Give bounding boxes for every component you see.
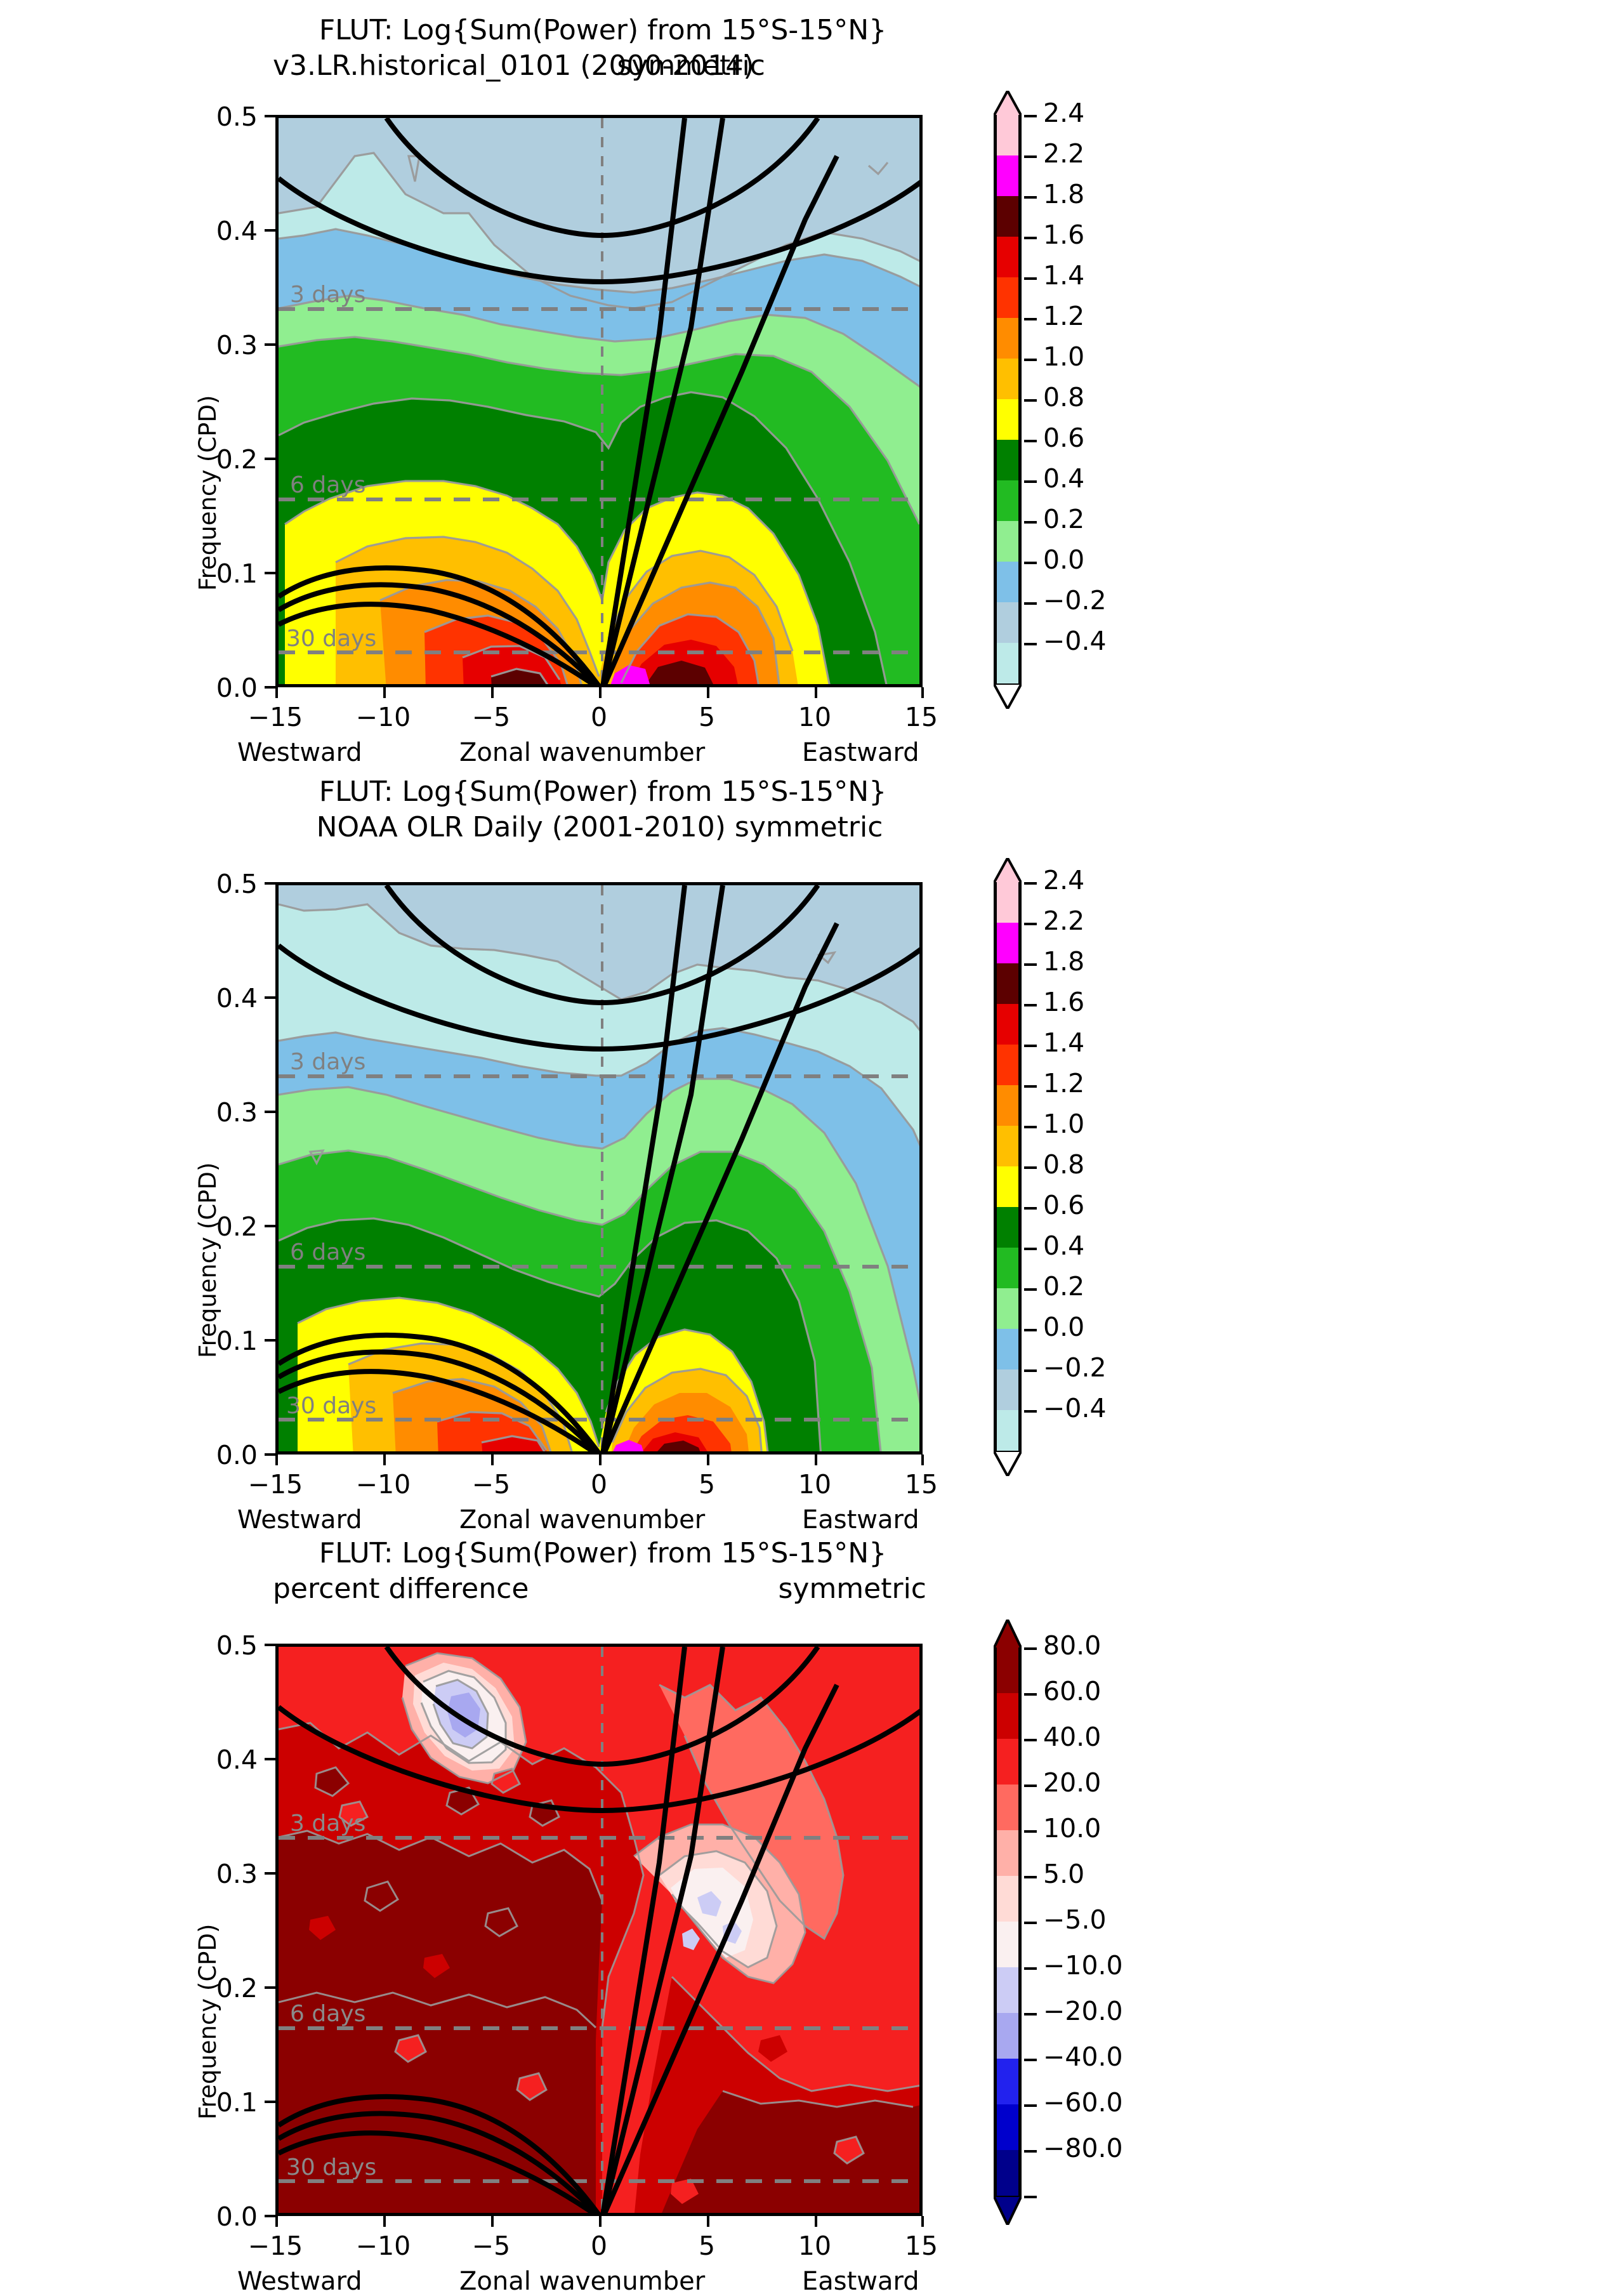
- panel-1-ytickmark: [265, 229, 275, 232]
- panel-3-colorbar-extend-bottom: [994, 2196, 1022, 2225]
- panel-2-ytickmark: [265, 1111, 275, 1113]
- panel-1-cb-tick: [1024, 440, 1037, 442]
- panel-1-cb-tick: [1024, 277, 1037, 280]
- panel-2-xtickmark: [599, 1455, 602, 1465]
- panel-3-xtick: −15: [234, 2231, 317, 2261]
- panel-3-cb-label: −60.0: [1043, 2087, 1123, 2118]
- panel-2-ytick: 0.3: [181, 1097, 258, 1128]
- panel-3-xtickmark: [815, 2216, 817, 2227]
- panel-2-xtickmark: [815, 1455, 817, 1465]
- panel-2-subtitle-left: NOAA OLR Daily (2001-2010) symmetric: [317, 811, 883, 843]
- panel-1-colorbar-extend-top: [994, 91, 1022, 116]
- panel-3-xtick: 0: [558, 2231, 640, 2261]
- panel-3-xtickmark: [599, 2216, 602, 2227]
- panel-3-cb-label: −80.0: [1043, 2133, 1123, 2163]
- panel-1-cb-label: 0.8: [1043, 382, 1084, 412]
- panel-1-ytick: 0.5: [181, 102, 258, 132]
- panel-1-cb-label: 2.4: [1043, 98, 1084, 128]
- panel-3-cb-tick: [1024, 1876, 1037, 1878]
- panel-1-ytickmark: [265, 343, 275, 346]
- panel-1-cb-label: 1.0: [1043, 341, 1084, 372]
- panel-1-cb-tick: [1024, 115, 1037, 117]
- panel-3-cb-tick: [1024, 2150, 1037, 2153]
- panel-2-ytick: 0.0: [181, 1440, 258, 1470]
- panel-3-ytick: 0.2: [181, 1973, 258, 2003]
- panel-3-cb-label: 10.0: [1043, 1813, 1101, 1844]
- panel-1-xtickmark: [599, 687, 602, 698]
- panel-2-cb-tick: [1024, 1410, 1037, 1413]
- panel-3-ytick: 0.0: [181, 2201, 258, 2232]
- panel-3-cb-tick: [1024, 2013, 1037, 2016]
- panel-1-ytick: 0.3: [181, 330, 258, 360]
- panel-1-cb-label: 0.2: [1043, 504, 1084, 534]
- panel-3-cb-label: 20.0: [1043, 1767, 1101, 1798]
- panel-2-colorbar-body: [994, 882, 1022, 1451]
- panel-1-xtick: 10: [773, 702, 856, 732]
- panel-3-xtickmark: [275, 2216, 278, 2227]
- panel-2-period-label-30days: 30 days: [286, 1393, 376, 1419]
- panel-1-cb-tick: [1024, 602, 1037, 605]
- panel-2-xtick: −10: [342, 1469, 424, 1500]
- panel-1-cb-tick: [1024, 399, 1037, 402]
- panel-3-ytick: 0.5: [181, 1630, 258, 1661]
- panel-3-ytickmark: [265, 1986, 275, 1989]
- panel-model-spectrum: FLUT: Log{Sum(Power) from 15°S-15°N} v3.…: [0, 0, 1618, 762]
- panel-3-colorbar-body: [994, 1647, 1022, 2196]
- panel-1-xtick: 0: [558, 702, 640, 732]
- panel-1-cb-label: 0.4: [1043, 463, 1084, 494]
- panel-2-cb-label: 0.4: [1043, 1230, 1084, 1261]
- panel-3-ytickmark: [265, 1758, 275, 1760]
- panel-2-xtick: 15: [880, 1469, 963, 1500]
- panel-3-cb-label: 60.0: [1043, 1676, 1101, 1706]
- panel-percent-difference: FLUT: Log{Sum(Power) from 15°S-15°N} per…: [0, 1523, 1618, 2285]
- panel-1-cb-label: 2.2: [1043, 138, 1084, 169]
- panel-1-cb-label: 1.8: [1043, 179, 1084, 209]
- panel-3-cb-tick: [1024, 1693, 1037, 1696]
- panel-3-title: FLUT: Log{Sum(Power) from 15°S-15°N}: [0, 1537, 1206, 1569]
- panel-2-cb-tick: [1024, 923, 1037, 925]
- panel-1-cb-tick: [1024, 318, 1037, 320]
- panel-3-xtickmark: [491, 2216, 494, 2227]
- panel-3-plot-area: 3 days 6 days 30 days: [275, 1644, 923, 2216]
- panel-3-ytick: 0.1: [181, 2087, 258, 2118]
- panel-3-xtickmark: [383, 2216, 386, 2227]
- panel-3-cb-label: 5.0: [1043, 1859, 1084, 1889]
- panel-2-colorbar-extend-bottom: [994, 1451, 1022, 1476]
- panel-1-cb-label: 1.6: [1043, 220, 1084, 250]
- panel-2-subtitle-row: NOAA OLR Daily (2001-2010) symmetric: [273, 811, 926, 847]
- panel-3-cb-label: −20.0: [1043, 1996, 1123, 2026]
- panel-1-colorbar-extend-bottom: [994, 683, 1022, 709]
- panel-2-xtick: 5: [666, 1469, 748, 1500]
- panel-3-cb-tick: [1024, 2104, 1037, 2107]
- panel-3-cb-tick: [1024, 1922, 1037, 1924]
- panel-2-ytickmark: [265, 1225, 275, 1227]
- panel-1-ytickmark: [265, 458, 275, 460]
- panel-3-xtick: 15: [880, 2231, 963, 2261]
- panel-1-xtickmark: [815, 687, 817, 698]
- panel-1-ytickmark: [265, 686, 275, 689]
- panel-1-title: FLUT: Log{Sum(Power) from 15°S-15°N}: [0, 14, 1206, 46]
- panel-2-cb-tick: [1024, 1126, 1037, 1128]
- panel-2-cb-label: 1.6: [1043, 987, 1084, 1017]
- panel-3-xtick: −5: [450, 2231, 532, 2261]
- panel-1-subtitle-right: symmetric: [617, 49, 765, 82]
- panel-2-xtick: −15: [234, 1469, 317, 1500]
- panel-3-ytickmark: [265, 1872, 275, 1875]
- panel-1-cb-label: 1.2: [1043, 301, 1084, 331]
- panel-1-ytick: 0.2: [181, 444, 258, 475]
- panel-2-ytick: 0.4: [181, 983, 258, 1013]
- panel-2-plot-area: 3 days 6 days 30 days: [275, 882, 923, 1455]
- panel-1-cb-tick: [1024, 237, 1037, 239]
- panel-2-cb-label: 1.0: [1043, 1109, 1084, 1139]
- panel-3-subtitle-row: percent difference symmetric: [273, 1573, 926, 1608]
- panel-1-xtick: −10: [342, 702, 424, 732]
- panel-3-subtitle-right: symmetric: [778, 1573, 926, 1605]
- panel-1-cb-tick: [1024, 155, 1037, 158]
- panel-1-cb-tick: [1024, 643, 1037, 645]
- panel-2-cb-tick: [1024, 1248, 1037, 1250]
- panel-3-subtitle-left: percent difference: [273, 1573, 529, 1605]
- panel-1-xtickmark: [383, 687, 386, 698]
- panel-2-period-label-6days: 6 days: [290, 1239, 365, 1265]
- panel-1-xtick: 5: [666, 702, 748, 732]
- panel-2-cb-tick: [1024, 1085, 1037, 1088]
- panel-3-cb-tick: [1024, 1967, 1037, 1970]
- panel-1-cb-tick: [1024, 196, 1037, 199]
- panel-3-xlabel: Zonal wavenumber: [459, 2267, 705, 2296]
- panel-2-xtickmark: [383, 1455, 386, 1465]
- panel-2-cb-tick: [1024, 1329, 1037, 1331]
- panel-1-plot-area: 3 days 6 days 30 days: [275, 115, 923, 687]
- panel-1-xtickmark: [921, 687, 924, 698]
- panel-1-spectrum-contours: [279, 118, 923, 687]
- panel-3-cb-tick: [1024, 1647, 1037, 1650]
- panel-1-cb-label: 0.0: [1043, 544, 1084, 575]
- panel-2-xtick: 10: [773, 1469, 856, 1500]
- panel-3-period-label-3days: 3 days: [290, 1811, 365, 1837]
- panel-3-cb-label: −5.0: [1043, 1904, 1107, 1935]
- panel-2-cb-tick: [1024, 882, 1037, 885]
- panel-2-cb-label: 1.2: [1043, 1068, 1084, 1099]
- panel-3-cb-tick: [1024, 2059, 1037, 2061]
- panel-2-spectrum-contours: [279, 885, 923, 1455]
- panel-2-cb-label: 0.6: [1043, 1190, 1084, 1220]
- panel-1-cb-tick: [1024, 359, 1037, 361]
- panel-2-cb-tick: [1024, 1004, 1037, 1006]
- panel-observation-spectrum: FLUT: Log{Sum(Power) from 15°S-15°N} NOA…: [0, 762, 1618, 1523]
- panel-3-eastward-label: Eastward: [802, 2267, 919, 2296]
- panel-3-xtick: −10: [342, 2231, 424, 2261]
- panel-2-cb-label: 2.2: [1043, 906, 1084, 936]
- panel-2-ytickmark: [265, 882, 275, 885]
- panel-2-period-label-3days: 3 days: [290, 1049, 365, 1075]
- panel-2-cb-label: −0.4: [1043, 1393, 1107, 1423]
- panel-3-ytickmark: [265, 2101, 275, 2103]
- panel-3-cb-label: −10.0: [1043, 1950, 1123, 1981]
- panel-2-ytick: 0.1: [181, 1326, 258, 1356]
- panel-2-cb-label: 0.0: [1043, 1312, 1084, 1342]
- panel-3-xtick: 5: [666, 2231, 748, 2261]
- panel-3-xtick: 10: [773, 2231, 856, 2261]
- panel-2-ytick: 0.5: [181, 869, 258, 899]
- panel-2-ytickmark: [265, 1339, 275, 1342]
- panel-2-cb-tick: [1024, 1166, 1037, 1169]
- panel-1-cb-tick: [1024, 480, 1037, 483]
- panel-1-cb-label: 1.4: [1043, 260, 1084, 291]
- panel-1-xtick: 15: [880, 702, 963, 732]
- panel-2-cb-label: 1.4: [1043, 1027, 1084, 1058]
- panel-2-cb-tick: [1024, 1207, 1037, 1210]
- panel-2-colorbar-extend-top: [994, 858, 1022, 883]
- panel-2-cb-label: 0.2: [1043, 1271, 1084, 1302]
- panel-2-ytickmark: [265, 996, 275, 999]
- panel-1-ytickmark: [265, 572, 275, 574]
- panel-2-cb-tick: [1024, 963, 1037, 966]
- panel-2-xtickmark: [275, 1455, 278, 1465]
- panel-1-ytick: 0.4: [181, 216, 258, 246]
- panel-2-xtick: 0: [558, 1469, 640, 1500]
- panel-3-cb-tick: [1024, 1785, 1037, 1787]
- panel-1-xtickmark: [707, 687, 709, 698]
- panel-1-cb-tick: [1024, 521, 1037, 524]
- panel-1-cb-label: 0.6: [1043, 423, 1084, 453]
- panel-3-period-label-6days: 6 days: [290, 2001, 365, 2027]
- panel-1-colorbar-body: [994, 115, 1022, 683]
- wavenumber-frequency-spectra-figure: FLUT: Log{Sum(Power) from 15°S-15°N} v3.…: [0, 0, 1618, 2285]
- panel-1-period-label-3days: 3 days: [290, 282, 365, 308]
- panel-1-ytick: 0.0: [181, 673, 258, 703]
- panel-3-ytick: 0.3: [181, 1859, 258, 1889]
- panel-1-xtickmark: [491, 687, 494, 698]
- panel-1-ytickmark: [265, 115, 275, 117]
- panel-1-cb-label: −0.2: [1043, 585, 1107, 616]
- panel-1-cb-label: −0.4: [1043, 626, 1107, 656]
- panel-2-ytickmark: [265, 1453, 275, 1456]
- panel-2-xtickmark: [921, 1455, 924, 1465]
- panel-2-cb-label: 0.8: [1043, 1149, 1084, 1180]
- panel-1-xtick: −15: [234, 702, 317, 732]
- panel-1-cb-tick: [1024, 562, 1037, 564]
- panel-1-subtitle-row: v3.LR.historical_0101 (2000-2014) symmet…: [273, 49, 926, 85]
- panel-3-ytickmark: [265, 1644, 275, 1646]
- panel-3-colorbar-extend-top: [994, 1620, 1022, 1649]
- panel-3-cb-tick: [1024, 2196, 1037, 2198]
- panel-3-xtickmark: [921, 2216, 924, 2227]
- panel-3-cb-label: 80.0: [1043, 1630, 1101, 1661]
- panel-3-ytickmark: [265, 2215, 275, 2217]
- panel-2-xtickmark: [491, 1455, 494, 1465]
- panel-3-xtickmark: [707, 2216, 709, 2227]
- panel-2-title: FLUT: Log{Sum(Power) from 15°S-15°N}: [0, 775, 1206, 808]
- panel-2-cb-label: −0.2: [1043, 1352, 1107, 1383]
- panel-3-ytick: 0.4: [181, 1745, 258, 1775]
- panel-2-cb-label: 1.8: [1043, 946, 1084, 977]
- panel-3-cb-label: −40.0: [1043, 2042, 1123, 2072]
- panel-2-cb-label: 2.4: [1043, 865, 1084, 895]
- panel-2-xtick: −5: [450, 1469, 532, 1500]
- panel-2-xtickmark: [707, 1455, 709, 1465]
- panel-1-period-label-6days: 6 days: [290, 472, 365, 498]
- panel-3-difference-contours: [279, 1647, 923, 2216]
- panel-1-ytick: 0.1: [181, 558, 258, 589]
- panel-1-xtick: −5: [450, 702, 532, 732]
- panel-3-cb-label: 40.0: [1043, 1722, 1101, 1752]
- panel-2-cb-tick: [1024, 1288, 1037, 1291]
- panel-3-westward-label: Westward: [237, 2267, 362, 2296]
- panel-2-ytick: 0.2: [181, 1211, 258, 1242]
- panel-2-cb-tick: [1024, 1045, 1037, 1047]
- panel-1-xtickmark: [275, 687, 278, 698]
- panel-3-period-label-30days: 30 days: [286, 2154, 376, 2181]
- panel-1-period-label-30days: 30 days: [286, 626, 376, 652]
- panel-3-cb-tick: [1024, 1739, 1037, 1741]
- panel-2-cb-tick: [1024, 1369, 1037, 1372]
- panel-3-cb-tick: [1024, 1830, 1037, 1833]
